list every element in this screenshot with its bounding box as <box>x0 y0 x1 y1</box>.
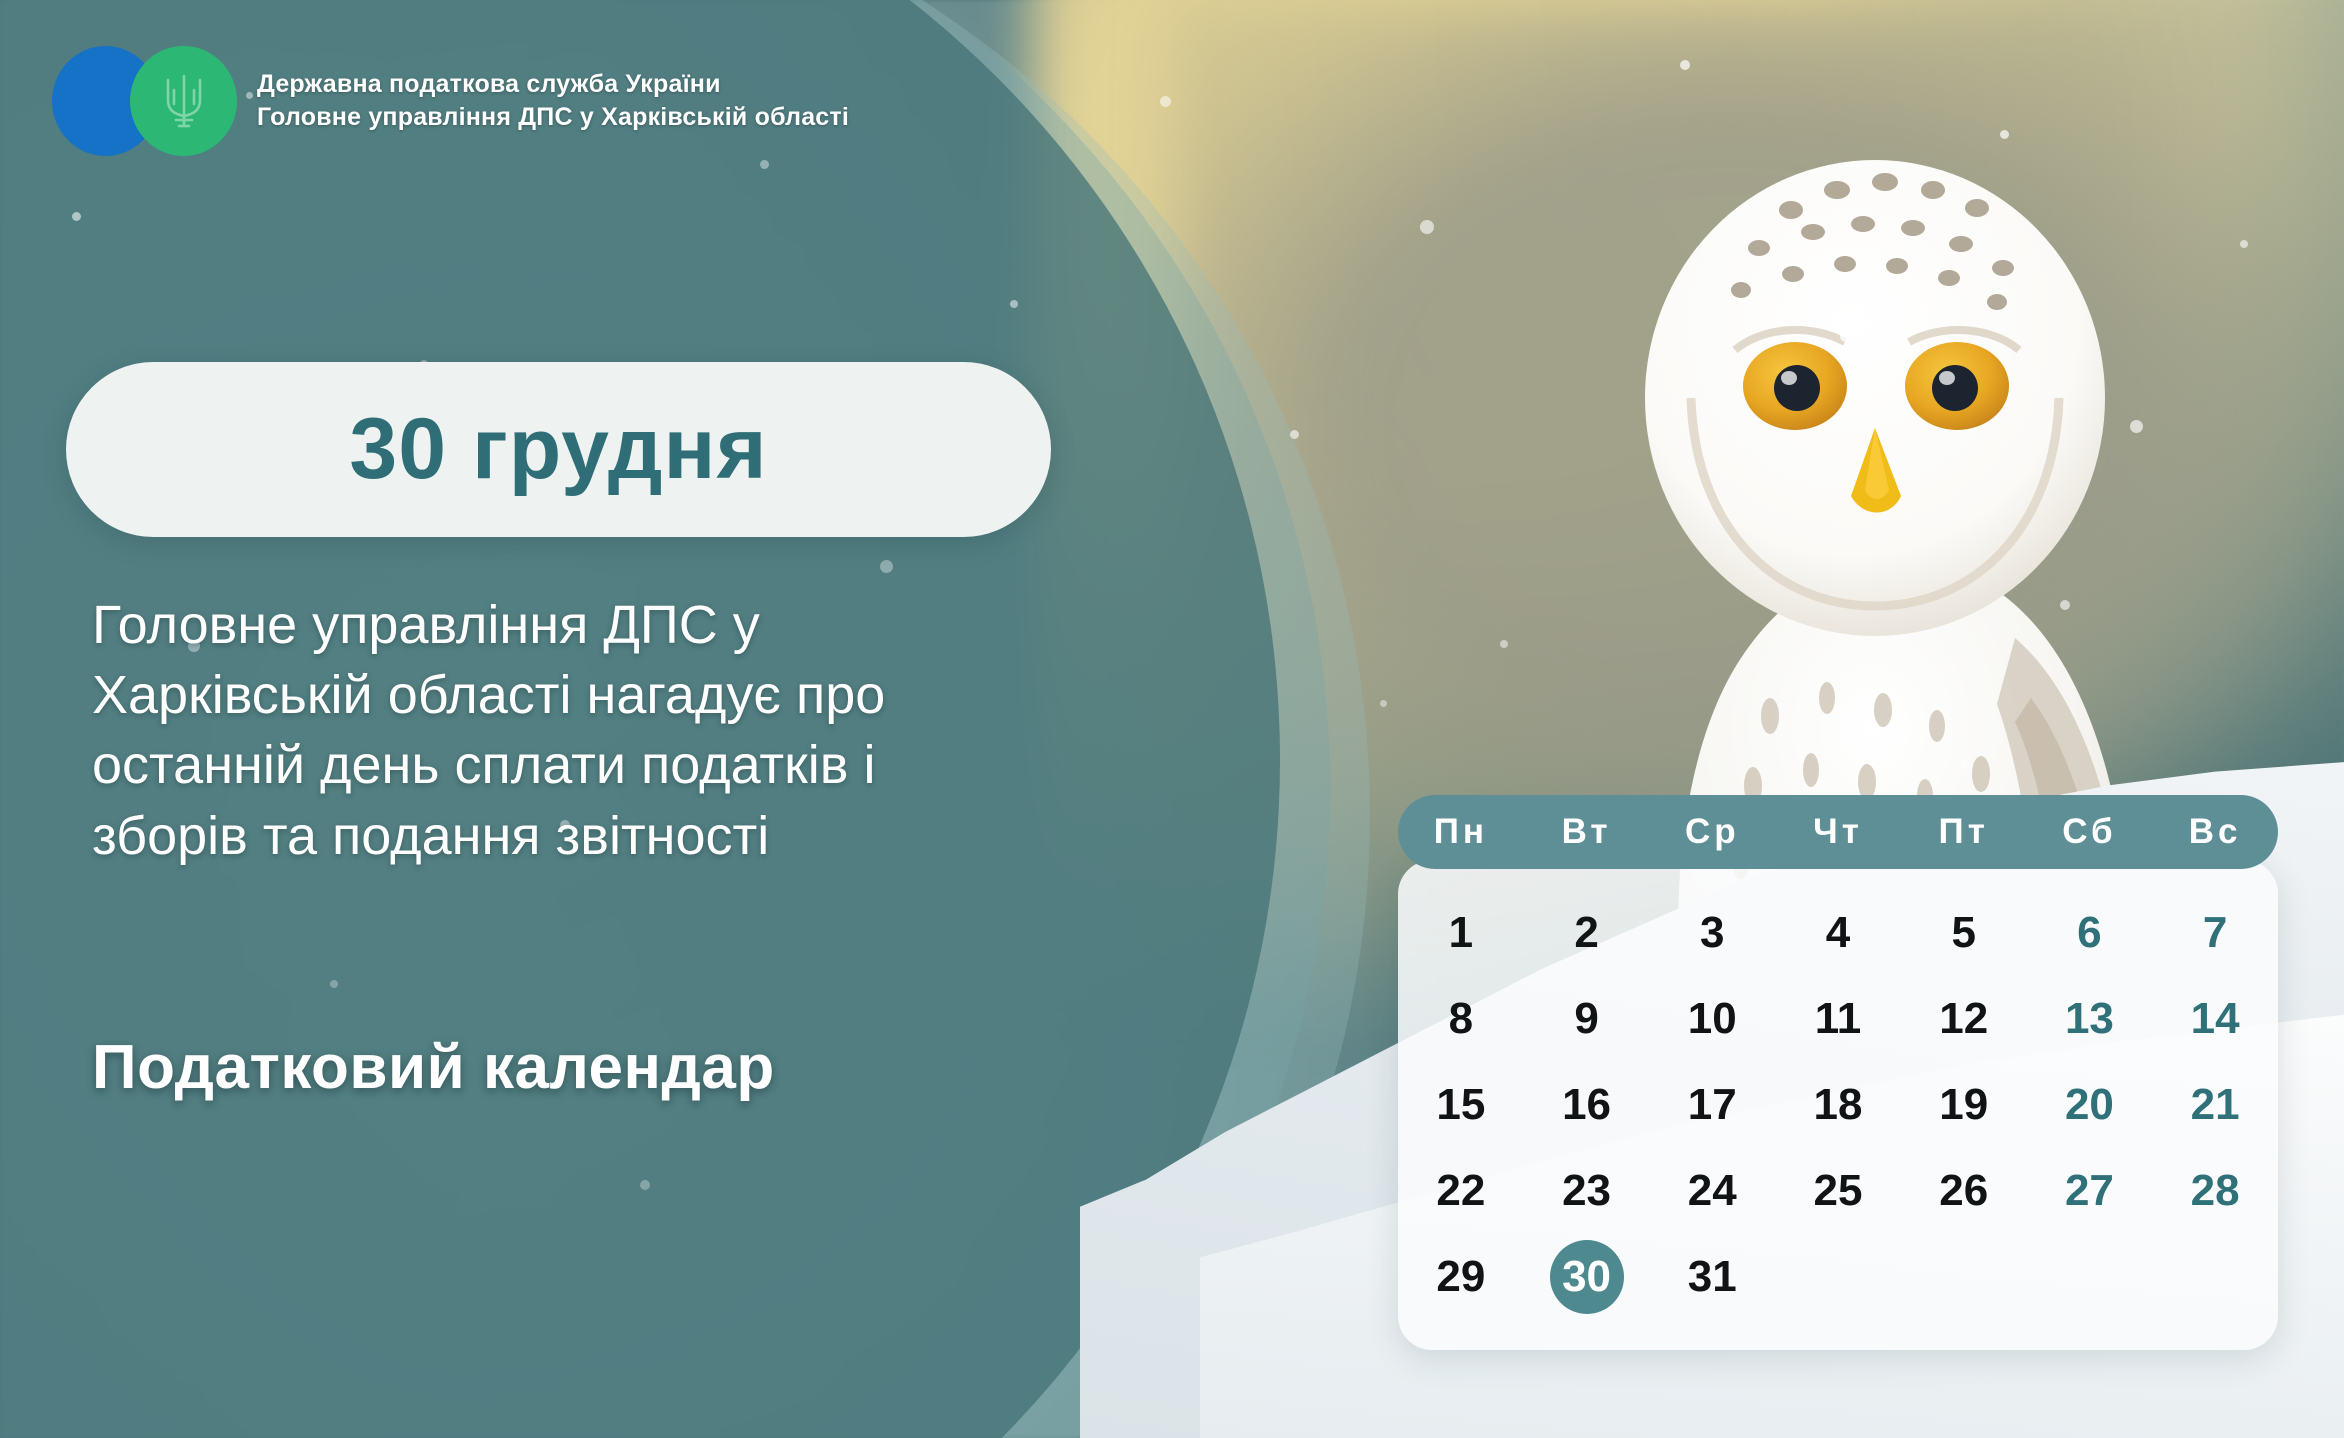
calendar-day-19[interactable]: 19 <box>1901 1062 2027 1148</box>
calendar-day-20[interactable]: 20 <box>2027 1062 2153 1148</box>
calendar-day-29[interactable]: 29 <box>1398 1234 1524 1320</box>
calendar-weekday-2: Ср <box>1649 812 1775 852</box>
calendar-weekday-4: Пт <box>1901 812 2027 852</box>
poster-canvas: Державна податкова служба України Головн… <box>0 0 2344 1438</box>
calendar-day-7[interactable]: 7 <box>2152 890 2278 976</box>
calendar-day-28[interactable]: 28 <box>2152 1148 2278 1234</box>
calendar-day-9[interactable]: 9 <box>1524 976 1650 1062</box>
calendar-day-27[interactable]: 27 <box>2027 1148 2153 1234</box>
calendar-day-17[interactable]: 17 <box>1649 1062 1775 1148</box>
calendar-day-2[interactable]: 2 <box>1524 890 1650 976</box>
calendar-day-26[interactable]: 26 <box>1901 1148 2027 1234</box>
brand-text: Державна податкова служба України Головн… <box>257 68 849 135</box>
calendar-day-31[interactable]: 31 <box>1649 1234 1775 1320</box>
calendar-day-21[interactable]: 21 <box>2152 1062 2278 1148</box>
calendar-day-13[interactable]: 13 <box>2027 976 2153 1062</box>
brand-lockup: Державна податкова служба України Головн… <box>52 46 849 156</box>
calendar-day-16[interactable]: 16 <box>1524 1062 1650 1148</box>
brand-line-2: Головне управління ДПС у Харківській обл… <box>257 101 849 135</box>
calendar-day-11[interactable]: 11 <box>1775 976 1901 1062</box>
dps-logo <box>52 46 237 156</box>
calendar-weekday-0: Пн <box>1398 812 1524 852</box>
calendar-weekday-5: Сб <box>2027 812 2153 852</box>
calendar-weekday-1: Вт <box>1524 812 1650 852</box>
calendar-day-18[interactable]: 18 <box>1775 1062 1901 1148</box>
calendar-day-8[interactable]: 8 <box>1398 976 1524 1062</box>
calendar-day-10[interactable]: 10 <box>1649 976 1775 1062</box>
calendar-day-14[interactable]: 14 <box>2152 976 2278 1062</box>
calendar-day-25[interactable]: 25 <box>1775 1148 1901 1234</box>
calendar-day-22[interactable]: 22 <box>1398 1148 1524 1234</box>
calendar-day-24[interactable]: 24 <box>1649 1148 1775 1234</box>
calendar-day-15[interactable]: 15 <box>1398 1062 1524 1148</box>
calendar-day-1[interactable]: 1 <box>1398 890 1524 976</box>
calendar-day-3[interactable]: 3 <box>1649 890 1775 976</box>
calendar-day-30[interactable]: 30 <box>1524 1234 1650 1320</box>
brand-line-1: Державна податкова служба України <box>257 68 849 102</box>
headline: Податковий календар <box>92 1032 775 1103</box>
calendar-day-23[interactable]: 23 <box>1524 1148 1650 1234</box>
calendar-weekday-6: Вс <box>2152 812 2278 852</box>
calendar-today-marker: 30 <box>1550 1240 1624 1314</box>
calendar-day-5[interactable]: 5 <box>1901 890 2027 976</box>
date-badge: 30 грудня <box>66 362 1051 537</box>
logo-green-circle <box>130 46 237 156</box>
calendar-day-grid[interactable]: 1234567891011121314151617181920212223242… <box>1398 890 2278 1340</box>
calendar-weekday-3: Чт <box>1775 812 1901 852</box>
trident-icon <box>160 70 208 132</box>
body-text: Головне управління ДПС у Харківській обл… <box>92 590 992 871</box>
calendar-weekday-header: ПнВтСрЧтПтСбВс <box>1398 795 2278 869</box>
date-badge-label: 30 грудня <box>349 400 767 499</box>
calendar-day-12[interactable]: 12 <box>1901 976 2027 1062</box>
calendar-day-4[interactable]: 4 <box>1775 890 1901 976</box>
calendar-day-6[interactable]: 6 <box>2027 890 2153 976</box>
